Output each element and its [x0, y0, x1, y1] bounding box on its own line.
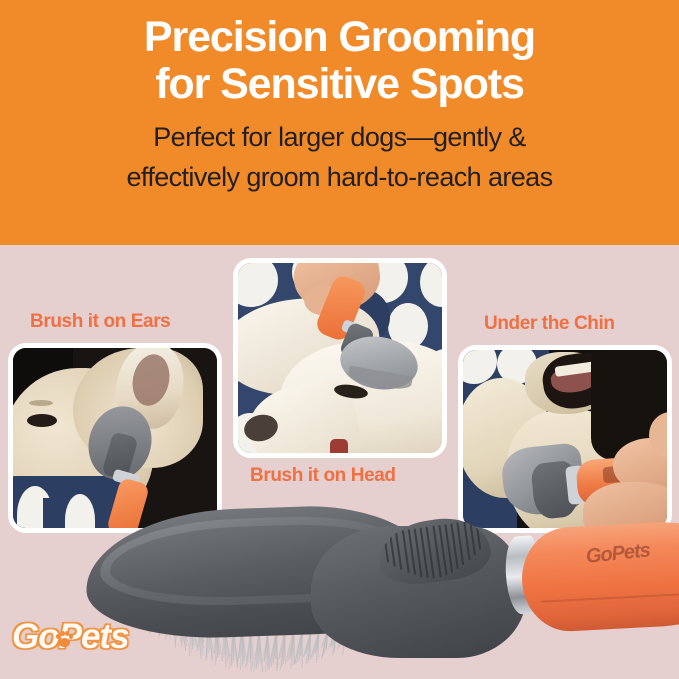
subhead-line-2: effectively groom hard-to-reach areas [10, 157, 670, 197]
handle-logo-emboss: GoPets [572, 536, 664, 571]
photo-head-scene [238, 263, 442, 453]
caption-under-the-chin: Under the Chin [484, 313, 615, 335]
photo-brush-on-head [233, 258, 447, 458]
brush-handle: GoPets [519, 518, 679, 633]
product-marketing-image: Precision Grooming for Sensitive Spots P… [0, 0, 679, 679]
handle-seam [541, 592, 679, 603]
caption-brush-on-head: Brush it on Head [250, 465, 396, 487]
subhead-line-1: Perfect for larger dogs—gently & [153, 122, 526, 152]
headline-line-1: Precision Grooming [144, 13, 535, 61]
headline-line-2: for Sensitive Spots [20, 61, 660, 108]
page-title: Precision Grooming for Sensitive Spots [20, 14, 660, 108]
product-slicker-brush: GoPets [86, 496, 679, 679]
paw-print-icon [56, 631, 73, 648]
caption-brush-on-ears: Brush it on Ears [30, 311, 170, 333]
header-banner: Precision Grooming for Sensitive Spots P… [0, 0, 679, 245]
page-subtitle: Perfect for larger dogs—gently & effecti… [10, 117, 670, 197]
brand-logo: GoPets [12, 615, 130, 661]
